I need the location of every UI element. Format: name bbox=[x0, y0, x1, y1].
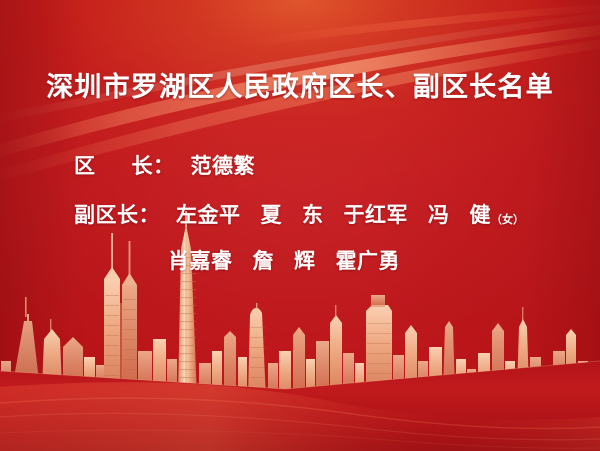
name-xia-dong-b: 东 bbox=[302, 203, 324, 227]
page-title: 深圳市罗湖区人民政府区长、副区长名单 bbox=[0, 74, 600, 101]
row-deputy-heads-2: 肖嘉睿詹辉霍广勇 bbox=[168, 251, 400, 272]
name-xiao-jiarui: 肖嘉睿 bbox=[168, 249, 233, 273]
row-district-head: 区长：范德繁 bbox=[74, 156, 255, 177]
name-yu-hongjun: 于红军 bbox=[344, 203, 409, 227]
row-label-district-head-a: 区 bbox=[74, 156, 96, 177]
name-feng-jian-a: 冯 bbox=[428, 203, 450, 227]
name-zhan-hui-b: 辉 bbox=[294, 249, 316, 273]
poster-canvas: 深圳市罗湖区人民政府区长、副区长名单 区长：范德繁 副区长：左金平夏东于红军冯健… bbox=[0, 0, 600, 451]
row-label-deputy-heads: 副区长： bbox=[74, 205, 160, 226]
name-zuo-jinping: 左金平 bbox=[176, 203, 241, 227]
name-huo-guangyong: 霍广勇 bbox=[336, 249, 401, 273]
name-fan-defan: 范德繁 bbox=[191, 154, 256, 178]
text-content: 深圳市罗湖区人民政府区长、副区长名单 区长：范德繁 副区长：左金平夏东于红军冯健… bbox=[0, 0, 600, 451]
gender-note-female: （女） bbox=[491, 214, 524, 226]
name-xia-dong-a: 夏 bbox=[261, 203, 283, 227]
row-label-district-head-b: 长： bbox=[132, 156, 175, 177]
row-deputy-heads-1: 副区长：左金平夏东于红军冯健（女） bbox=[74, 205, 524, 226]
name-feng-jian-b: 健 bbox=[470, 203, 492, 227]
name-zhan-hui-a: 詹 bbox=[253, 249, 275, 273]
